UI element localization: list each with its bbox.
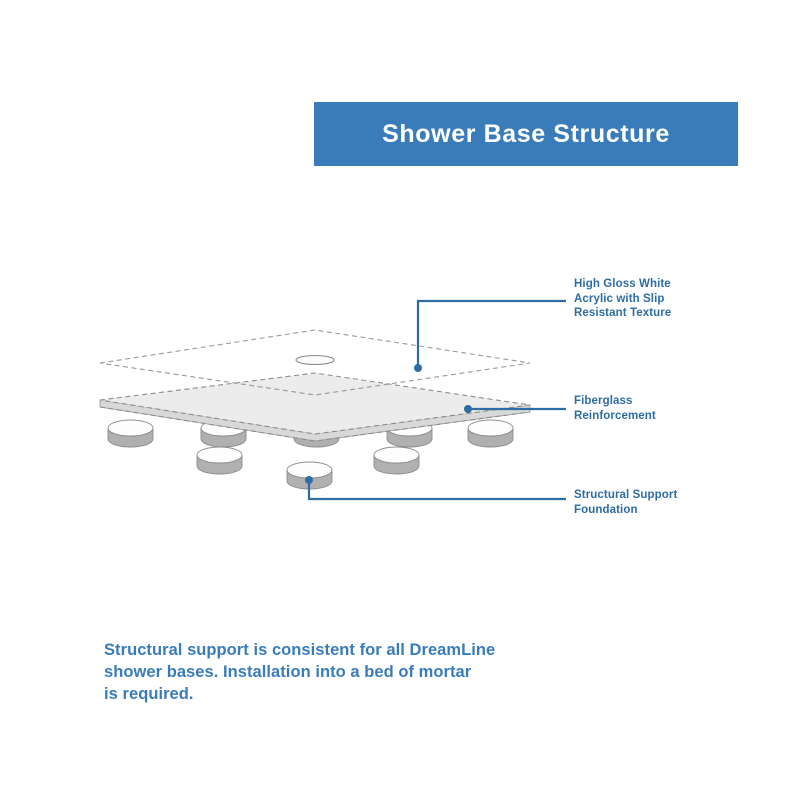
leader-line-support bbox=[305, 476, 566, 499]
callout-label-acrylic: High Gloss White Acrylic with Slip Resis… bbox=[574, 277, 734, 321]
callout-label-support: Structural Support Foundation bbox=[574, 488, 744, 517]
support-ring bbox=[374, 447, 419, 474]
drain-opening bbox=[296, 356, 334, 365]
leader-line-acrylic bbox=[414, 301, 566, 372]
diagram-page: Shower Base Structure bbox=[0, 0, 806, 806]
support-ring bbox=[197, 447, 242, 474]
footer-note: Structural support is consistent for all… bbox=[104, 639, 544, 705]
support-ring bbox=[468, 420, 513, 447]
support-ring bbox=[108, 420, 153, 447]
callout-label-fiberglass: Fiberglass Reinforcement bbox=[574, 394, 734, 423]
